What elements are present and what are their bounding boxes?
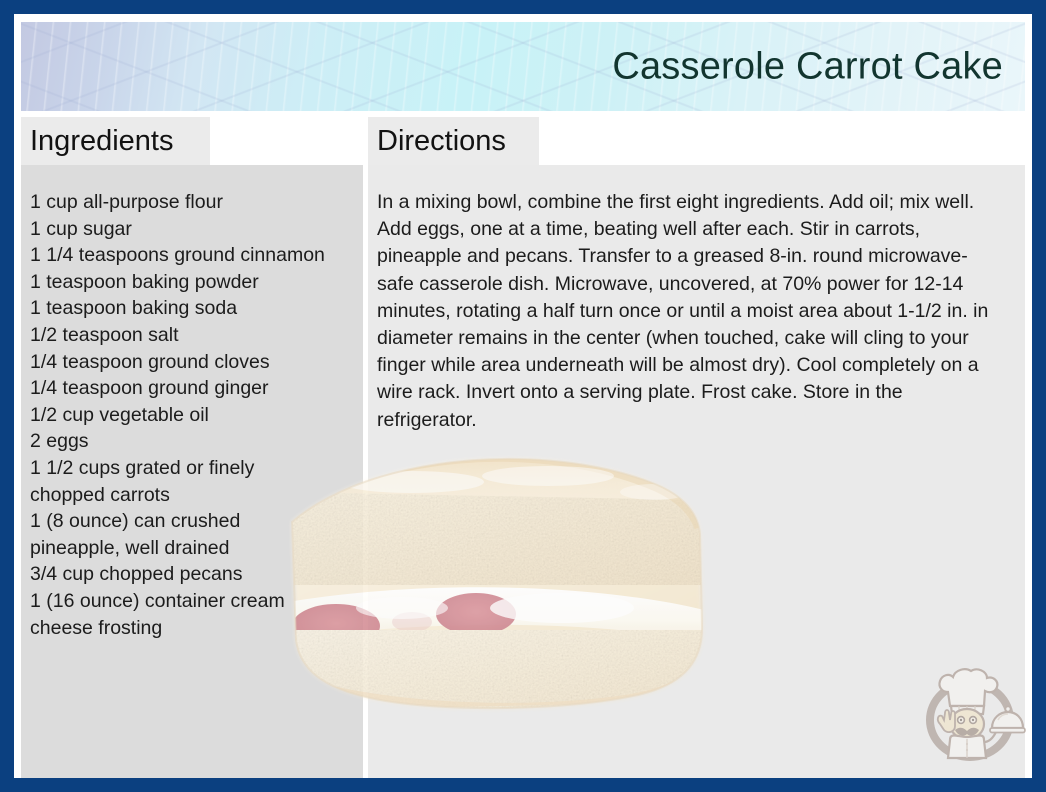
ingredient-item: 1 teaspoon baking soda [30, 295, 353, 322]
ingredient-item: 1 (16 ounce) container cream cheese fros… [30, 588, 353, 641]
ingredient-item: 1/4 teaspoon ground cloves [30, 349, 353, 376]
ingredients-panel: Ingredients 1 cup all-purpose flour1 cup… [21, 117, 363, 778]
ingredient-item: 1/4 teaspoon ground ginger [30, 375, 353, 402]
ingredients-heading: Ingredients [30, 127, 174, 156]
recipe-card-page: Casserole Carrot Cake Ingredients 1 cup … [0, 0, 1046, 792]
title-banner: Casserole Carrot Cake [21, 22, 1025, 111]
directions-text: In a mixing bowl, combine the first eigh… [377, 189, 1015, 434]
ingredient-item: 2 eggs [30, 428, 353, 455]
directions-body: In a mixing bowl, combine the first eigh… [368, 165, 1025, 778]
ingredient-list: 1 cup all-purpose flour1 cup sugar1 1/4 … [30, 189, 353, 641]
ingredient-item: 1 1/2 cups grated or finely chopped carr… [30, 455, 353, 508]
ingredient-item: 1/2 cup vegetable oil [30, 402, 353, 429]
content-columns: Ingredients 1 cup all-purpose flour1 cup… [14, 117, 1032, 778]
ingredient-item: 1 cup all-purpose flour [30, 189, 353, 216]
directions-heading: Directions [377, 127, 506, 156]
page-title: Casserole Carrot Cake [612, 45, 1003, 88]
ingredient-item: 1 cup sugar [30, 216, 353, 243]
directions-tab: Directions [368, 117, 539, 165]
ingredients-body: 1 cup all-purpose flour1 cup sugar1 1/4 … [21, 165, 363, 778]
ingredient-item: 1 teaspoon baking powder [30, 269, 353, 296]
ingredients-tab: Ingredients [21, 117, 210, 165]
ingredient-item: 1 1/4 teaspoons ground cinnamon [30, 242, 353, 269]
directions-panel: Directions In a mixing bowl, combine the… [368, 117, 1025, 778]
ingredient-item: 3/4 cup chopped pecans [30, 561, 353, 588]
ingredient-item: 1 (8 ounce) can crushed pineapple, well … [30, 508, 353, 561]
ingredient-item: 1/2 teaspoon salt [30, 322, 353, 349]
recipe-card: Casserole Carrot Cake Ingredients 1 cup … [14, 14, 1032, 778]
